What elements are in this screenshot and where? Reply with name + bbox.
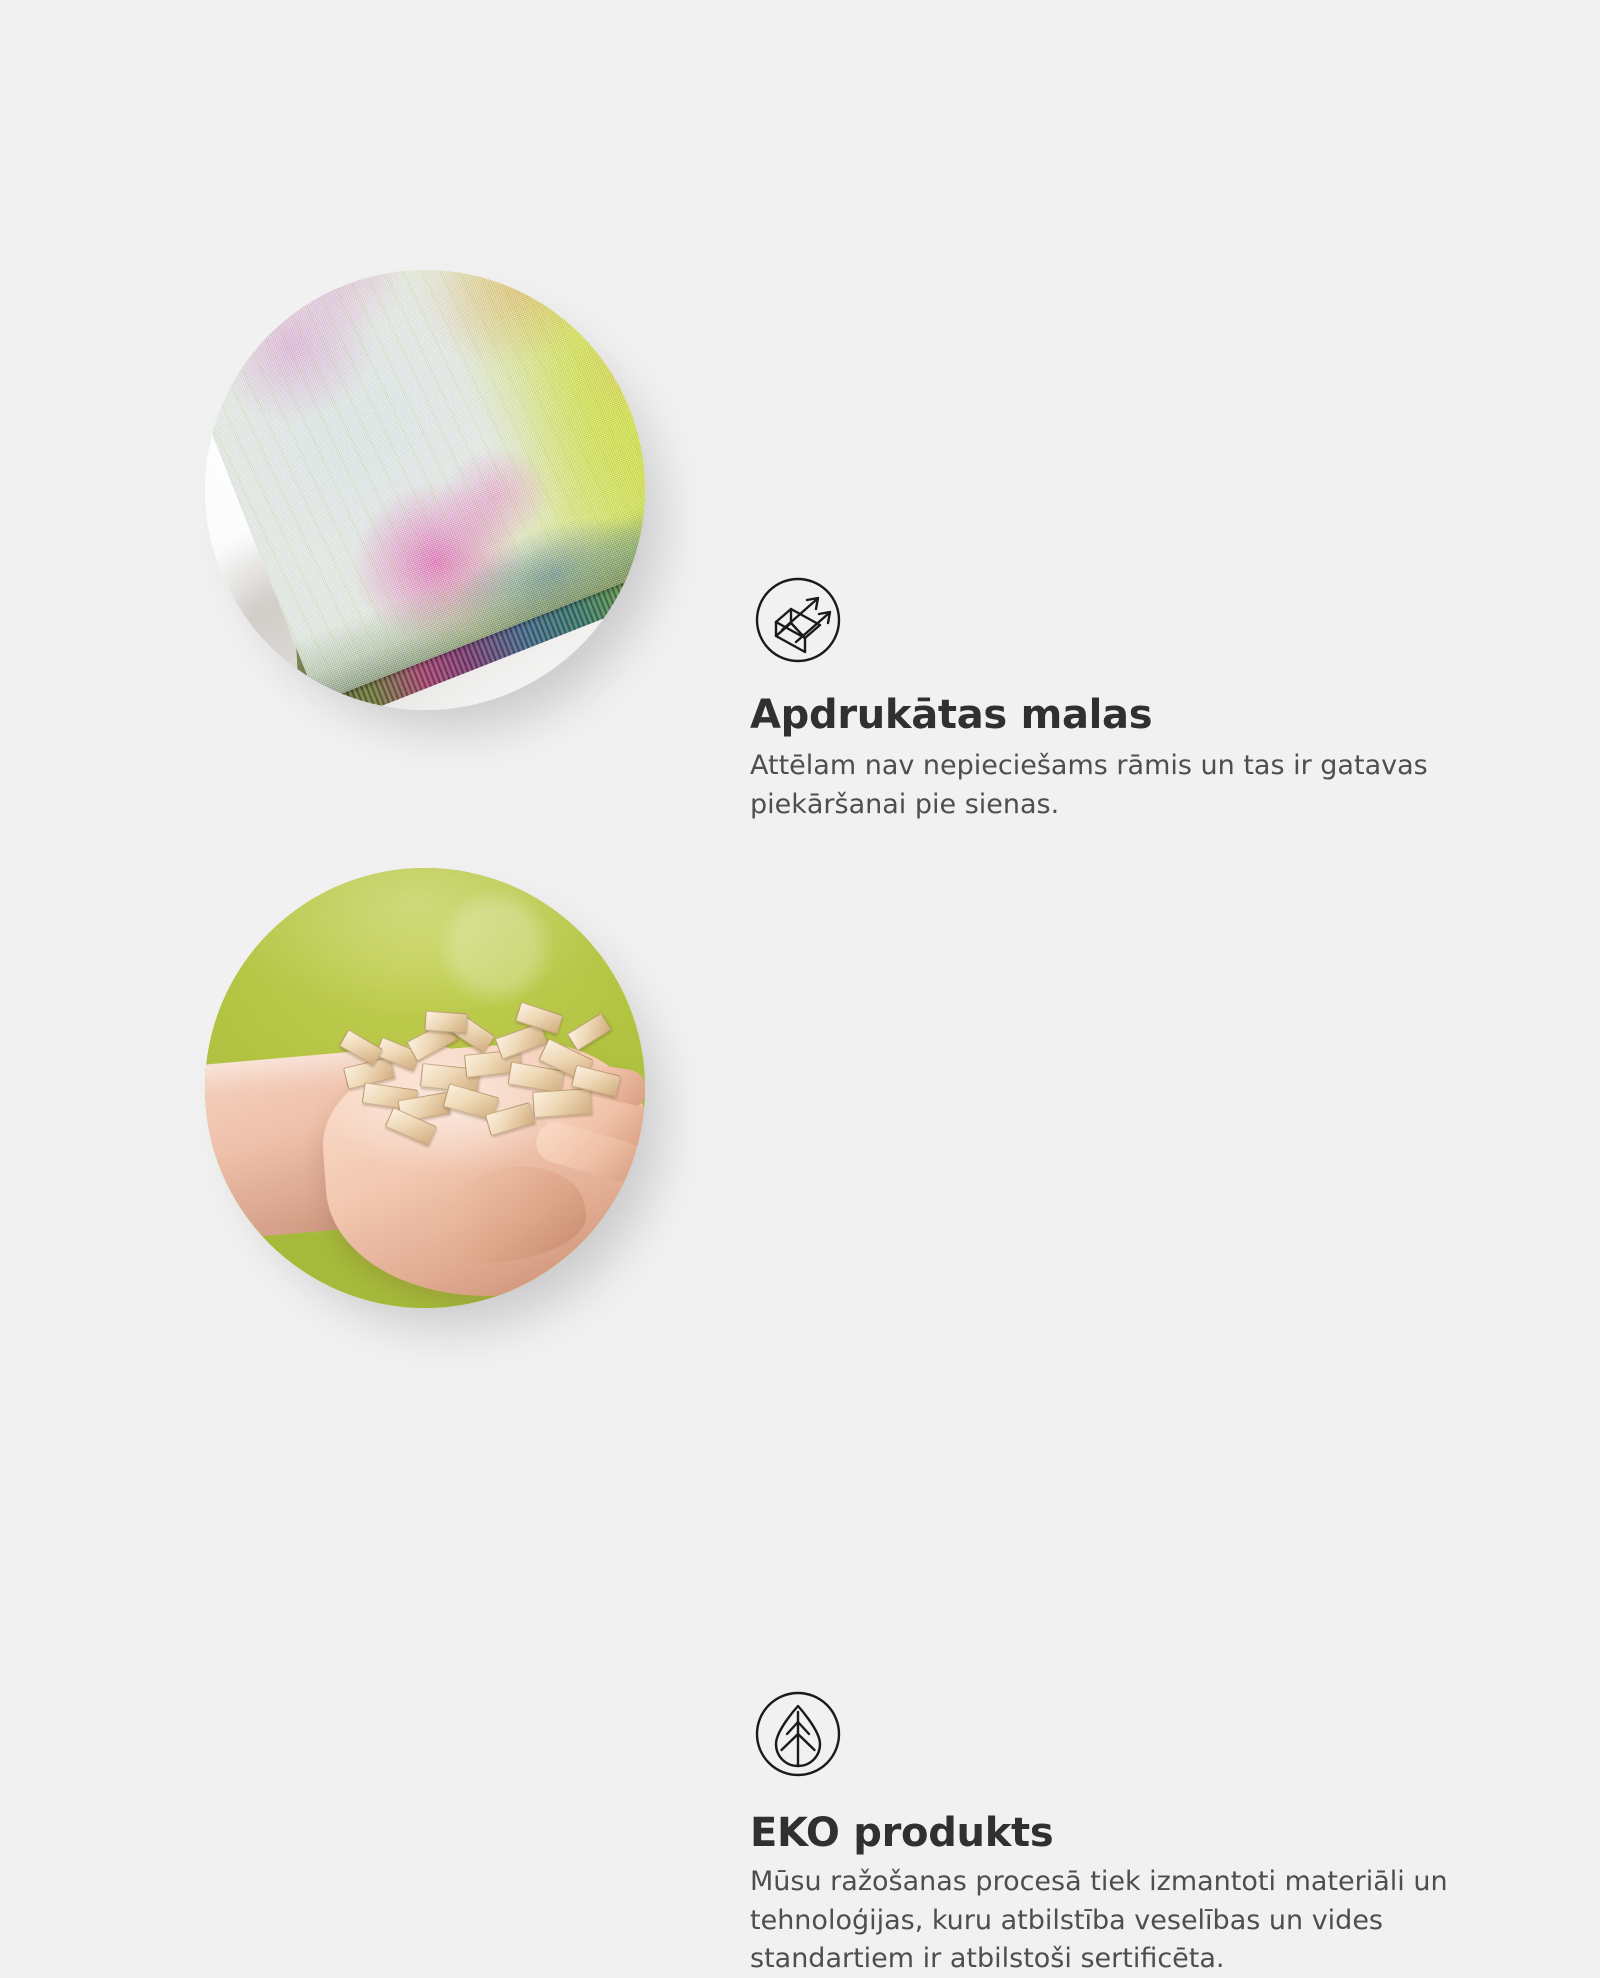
feature-title: Apdrukātas malas — [750, 692, 1470, 739]
canvas-wrapped-edge-icon — [750, 572, 846, 668]
wood-chip — [339, 1029, 383, 1065]
feature-description: Mūsu ražošanas procesā tiek izmantoti ma… — [750, 1863, 1450, 1978]
wood-chip — [532, 1088, 592, 1118]
feature-description: Attēlam nav nepieciešams rāmis un tas ir… — [750, 747, 1450, 824]
feature-title: EKO produkts — [750, 1810, 1470, 1857]
eco-product-text-block: EKO produkts Mūsu ražošanas procesā tiek… — [750, 1810, 1470, 1978]
printed-edges-text-block: Apdrukātas malas Attēlam nav nepieciešam… — [750, 692, 1470, 824]
hand-with-wood-chips-photo — [205, 868, 645, 1308]
leaf-icon — [750, 1686, 846, 1782]
wood-chip — [567, 1013, 612, 1051]
canvas-print — [205, 270, 645, 710]
canvas-corner-photo — [205, 270, 645, 710]
feature-printed-edges: Apdrukātas malas Attēlam nav nepieciešam… — [0, 230, 1600, 790]
canvas-printed-face — [205, 270, 645, 705]
feature-eco-product: EKO produkts Mūsu ražošanas procesā tiek… — [0, 828, 1600, 1388]
wood-chip — [424, 1011, 467, 1034]
wood-chips-pile — [337, 1004, 617, 1154]
product-features-page: Apdrukātas malas Attēlam nav nepieciešam… — [0, 0, 1600, 1600]
